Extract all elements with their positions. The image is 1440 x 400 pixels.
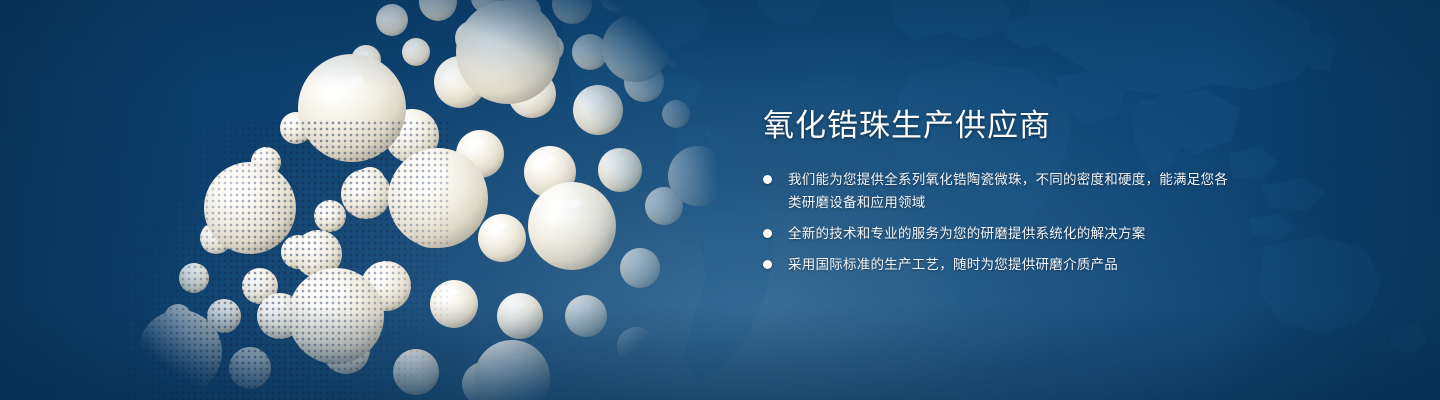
banner-headline: 氧化锆珠生产供应商 [763,106,1233,146]
hero-banner: 氧化锆珠生产供应商 我们能为您提供全系列氧化锆陶瓷微珠，不同的密度和硬度，能满足… [0,0,1440,400]
bullet-item-2: 全新的技术和专业的服务为您的研磨提供系统化的解决方案 [763,222,1233,245]
bullet-text-2: 全新的技术和专业的服务为您的研磨提供系统化的解决方案 [788,226,1146,241]
bullet-text-3: 采用国际标准的生产工艺，随时为您提供研磨介质产品 [788,257,1118,272]
banner-bullet-list: 我们能为您提供全系列氧化锆陶瓷微珠，不同的密度和硬度，能满足您各类研磨设备和应用… [763,168,1233,276]
bullet-dot-icon [763,175,772,184]
bullet-dot-icon [763,229,772,238]
bullet-dot-icon [763,260,772,269]
bullet-text-1: 我们能为您提供全系列氧化锆陶瓷微珠，不同的密度和硬度，能满足您各类研磨设备和应用… [788,172,1228,210]
banner-copy-block: 氧化锆珠生产供应商 我们能为您提供全系列氧化锆陶瓷微珠，不同的密度和硬度，能满足… [763,106,1233,276]
bullet-item-1: 我们能为您提供全系列氧化锆陶瓷微珠，不同的密度和硬度，能满足您各类研磨设备和应用… [763,168,1233,214]
bullet-item-3: 采用国际标准的生产工艺，随时为您提供研磨介质产品 [763,253,1233,276]
